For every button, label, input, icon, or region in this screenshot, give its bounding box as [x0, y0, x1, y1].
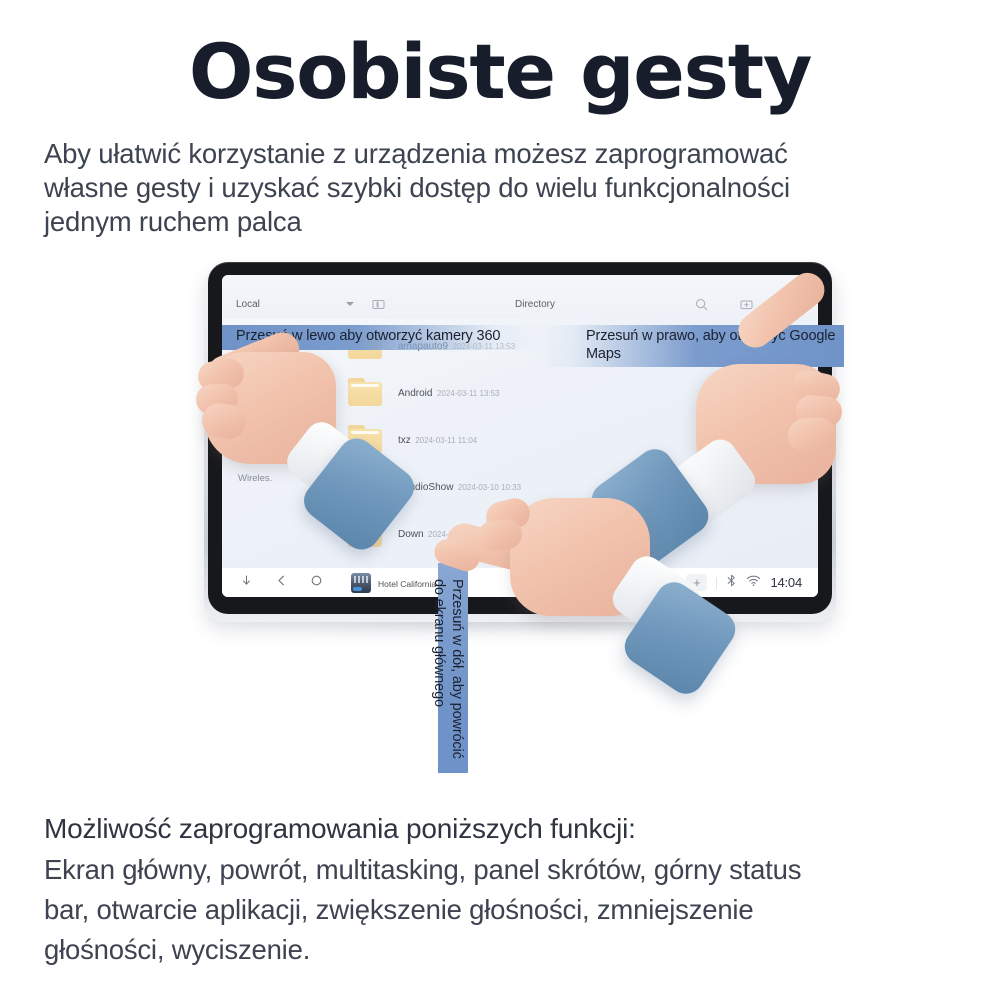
- footer-line-3: głośności, wyciszenie.: [44, 930, 984, 970]
- search-icon[interactable]: [695, 298, 708, 311]
- intro-line-2: własne gesty i uzyskać szybki dostęp do …: [44, 171, 974, 205]
- hand-pointing-down: [452, 488, 722, 708]
- file-date: 2024-03-11 13:53: [437, 389, 500, 398]
- intro-line-3: jednym ruchem palca: [44, 205, 974, 239]
- hand-pointing-left: [196, 300, 406, 590]
- intro-paragraph: Aby ułatwić korzystanie z urządzenia moż…: [44, 137, 974, 239]
- directory-label: Directory: [515, 299, 555, 310]
- intro-line-1: Aby ułatwić korzystanie z urządzenia moż…: [44, 137, 974, 171]
- footer-text-block: Możliwość zaprogramowania poniższych fun…: [44, 808, 984, 970]
- poster-page: Osobiste gesty Aby ułatwić korzystanie z…: [0, 0, 1000, 1000]
- footer-line-2: bar, otwarcie aplikacji, zwiększenie gło…: [44, 890, 984, 930]
- page-title: Osobiste gesty: [0, 26, 1000, 118]
- footer-body: Ekran główny, powrót, multitasking, pane…: [44, 850, 984, 970]
- footer-heading: Możliwość zaprogramowania poniższych fun…: [44, 808, 984, 850]
- file-date: 2024-03-11 11:04: [415, 436, 477, 445]
- new-folder-icon[interactable]: [740, 298, 753, 311]
- footer-line-1: Ekran główny, powrót, multitasking, pane…: [44, 850, 984, 890]
